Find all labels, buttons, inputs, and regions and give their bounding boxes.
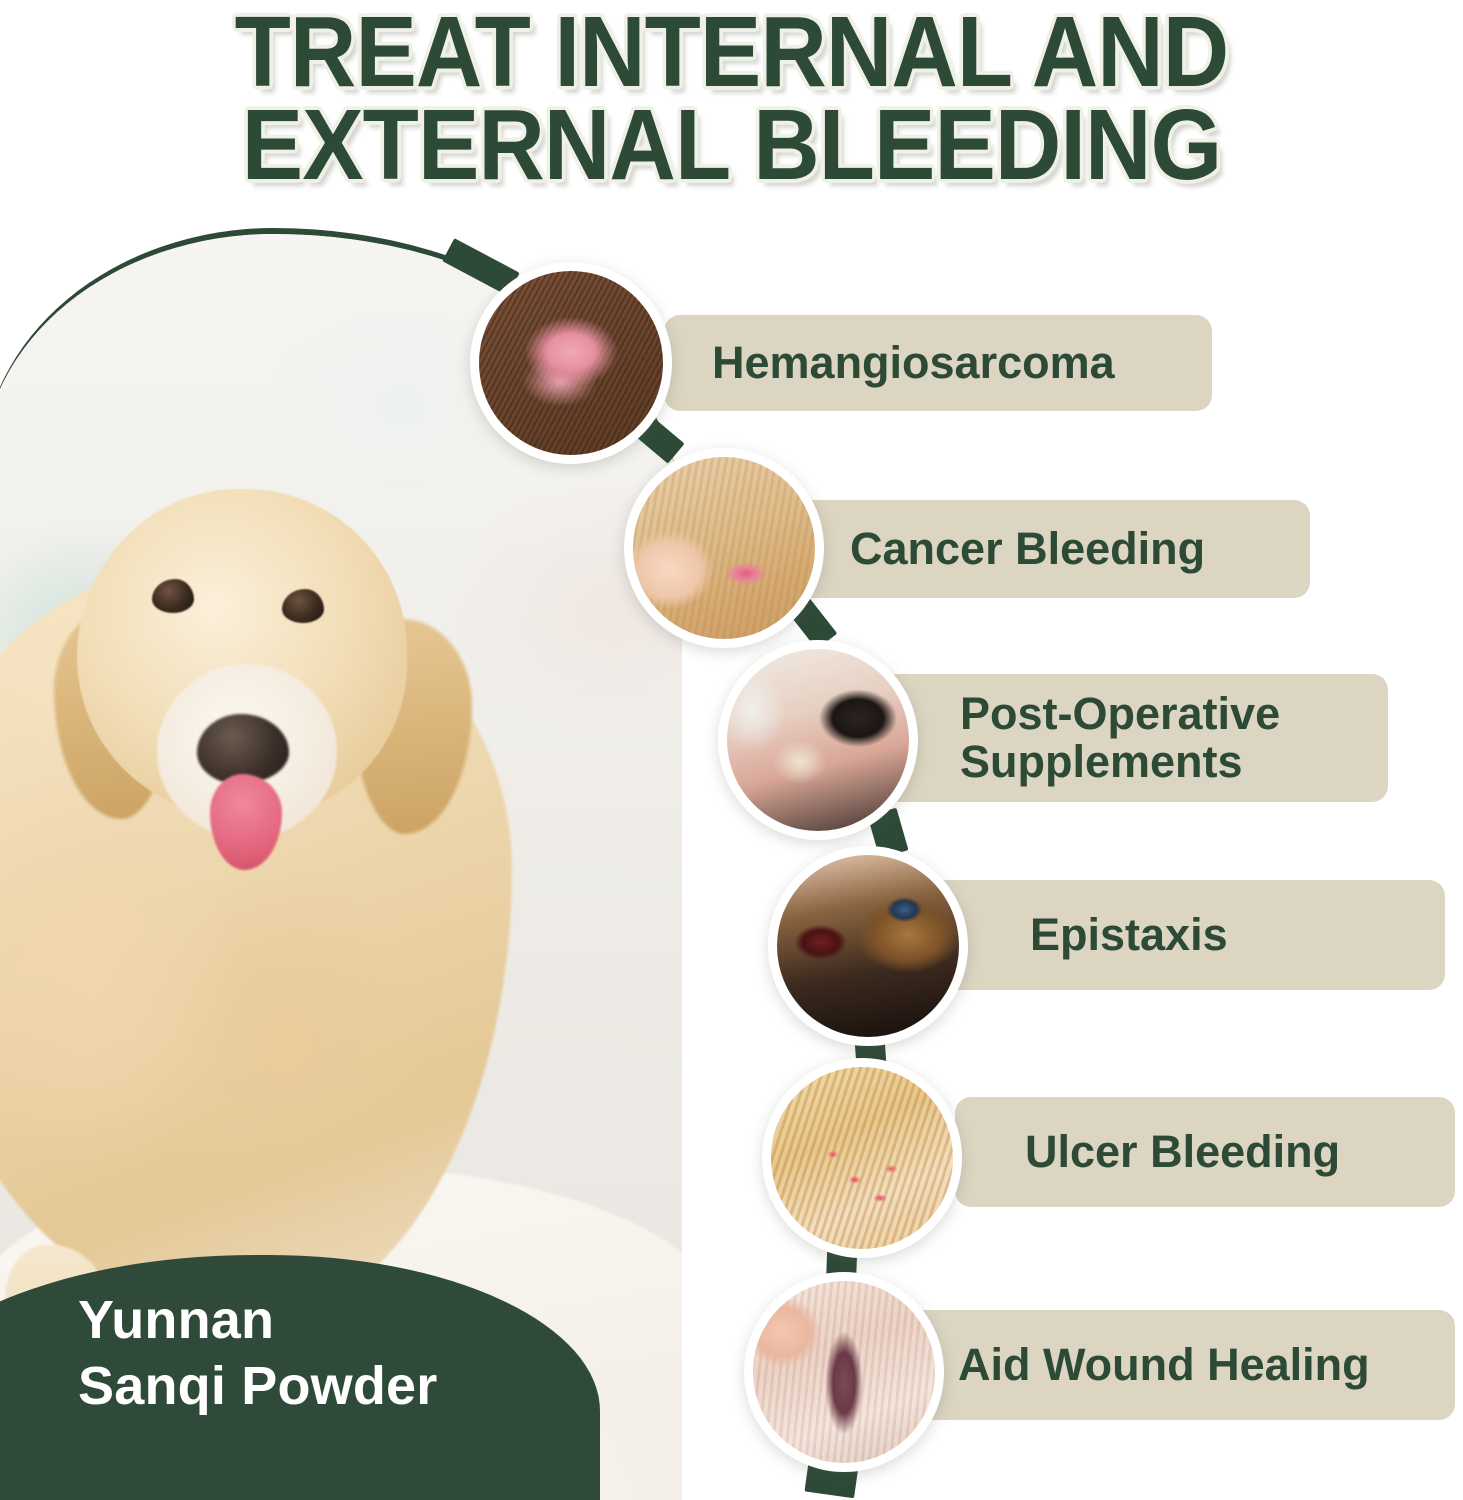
benefit-pill-1[interactable]: Hemangiosarcoma xyxy=(664,315,1212,411)
benefit-pill-3[interactable]: Post-Operative Supplements xyxy=(880,674,1388,802)
benefit-thumb-3-image xyxy=(727,649,909,831)
benefit-thumb-6[interactable] xyxy=(744,1272,944,1472)
benefit-thumb-5[interactable] xyxy=(762,1058,962,1258)
benefit-thumb-3[interactable] xyxy=(718,640,918,840)
benefit-pill-4[interactable]: Epistaxis xyxy=(930,880,1445,990)
brand-badge-line-2: Sanqi Powder xyxy=(78,1354,598,1420)
brand-badge-line-1: Yunnan xyxy=(78,1288,598,1354)
headline: TREAT INTERNAL AND EXTERNAL BLEEDING xyxy=(0,0,1463,230)
benefit-label-5: Ulcer Bleeding xyxy=(1025,1128,1455,1176)
benefit-pill-6[interactable]: Aid Wound Healing xyxy=(910,1310,1455,1420)
headline-line-2: EXTERNAL BLEEDING xyxy=(59,99,1405,192)
brand-badge-text: Yunnan Sanqi Powder xyxy=(78,1288,598,1420)
benefit-pill-2[interactable]: Cancer Bleeding xyxy=(770,500,1310,598)
benefit-thumb-4[interactable] xyxy=(768,846,968,1046)
benefit-pill-5[interactable]: Ulcer Bleeding xyxy=(955,1097,1455,1207)
benefit-thumb-1[interactable] xyxy=(470,262,672,464)
benefit-thumb-2[interactable] xyxy=(624,448,824,648)
benefit-label-4: Epistaxis xyxy=(1030,911,1445,959)
benefit-thumb-2-image xyxy=(633,457,815,639)
benefit-thumb-1-image xyxy=(479,271,663,455)
benefit-thumb-5-image xyxy=(771,1067,953,1249)
benefit-label-2: Cancer Bleeding xyxy=(850,525,1310,573)
benefit-thumb-6-image xyxy=(753,1281,935,1463)
headline-line-1: TREAT INTERNAL AND xyxy=(59,0,1405,99)
benefit-thumb-4-image xyxy=(777,855,959,1037)
dog-eye-left-shape xyxy=(152,579,194,613)
benefit-label-6: Aid Wound Healing xyxy=(958,1341,1455,1389)
infographic-canvas: TREAT INTERNAL AND EXTERNAL BLEEDING Hem… xyxy=(0,0,1463,1500)
benefit-label-3: Post-Operative Supplements xyxy=(960,690,1388,785)
benefit-label-1: Hemangiosarcoma xyxy=(712,339,1212,387)
dog-eye-right-shape xyxy=(282,589,324,623)
